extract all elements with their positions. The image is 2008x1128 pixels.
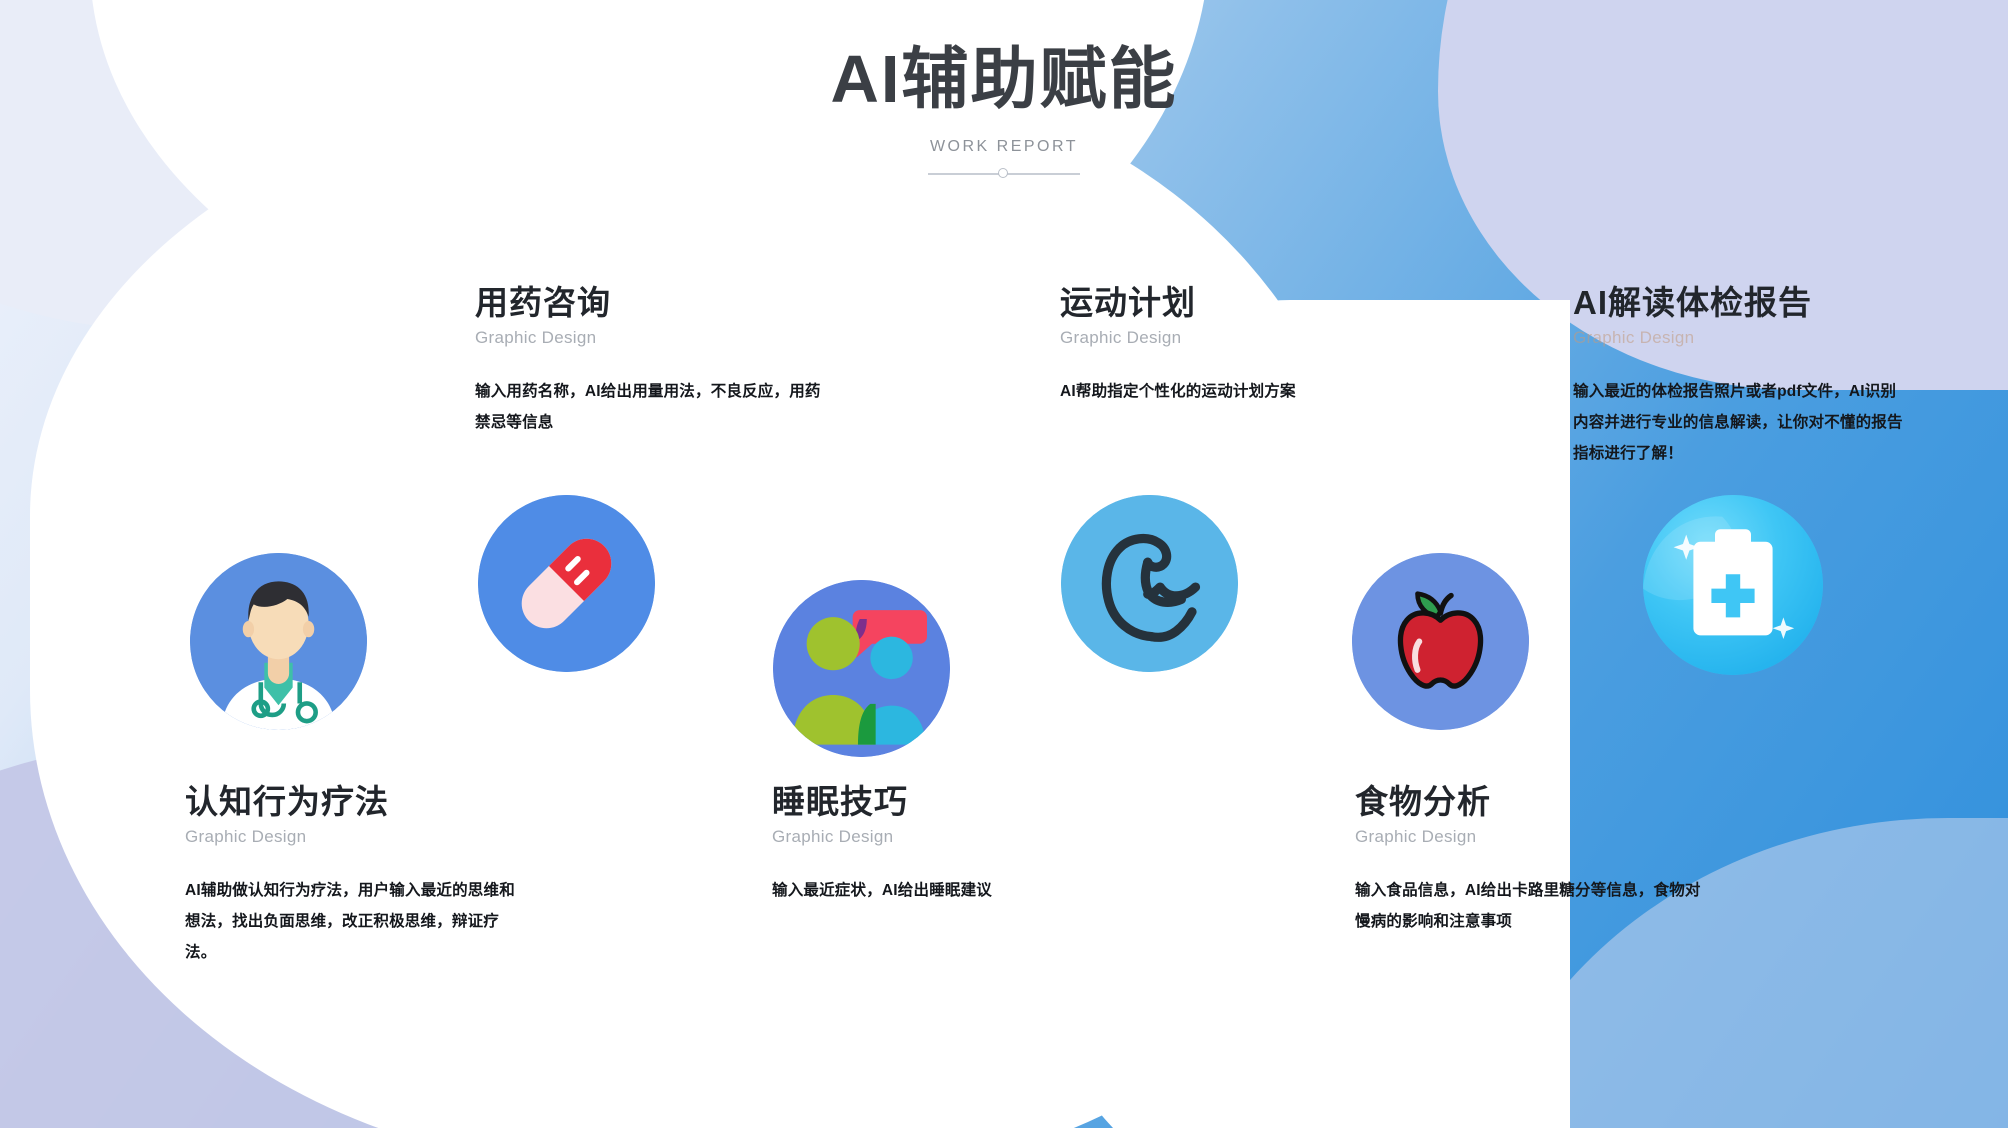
block-subtitle: Graphic Design [1060, 328, 1390, 348]
block-description: 输入食品信息，AI给出卡路里糖分等信息，食物对慢病的影响和注意事项 [1355, 875, 1705, 937]
doctor-icon [190, 553, 367, 730]
block-subtitle: Graphic Design [475, 328, 835, 348]
block-title: 运动计划 [1060, 283, 1390, 323]
block-description: AI辅助做认知行为疗法，用户输入最近的思维和想法，找出负面思维，改正积极思维，辩… [185, 875, 525, 968]
title-divider [928, 167, 1080, 181]
block-description: 输入最近症状，AI给出睡眠建议 [772, 875, 1102, 906]
block-subtitle: Graphic Design [1355, 827, 1705, 847]
page-subtitle: WORK REPORT [0, 138, 2008, 156]
pill-icon [478, 495, 655, 672]
block-title: 食物分析 [1355, 782, 1705, 822]
content-block-sleep: 睡眠技巧 Graphic Design 输入最近症状，AI给出睡眠建议 [772, 782, 1102, 906]
block-title: 用药咨询 [475, 283, 835, 323]
apple-icon [1352, 553, 1529, 730]
block-subtitle: Graphic Design [185, 827, 525, 847]
block-subtitle: Graphic Design [772, 827, 1102, 847]
medical-report-icon [1643, 495, 1823, 675]
two-people-talking-icon [773, 580, 950, 757]
block-description: 输入最近的体检报告照片或者pdf文件，AI识别内容并进行专业的信息解读，让你对不… [1573, 376, 1903, 469]
muscle-icon [1061, 495, 1238, 672]
content-block-medication: 用药咨询 Graphic Design 输入用药名称，AI给出用量用法，不良反应… [475, 283, 835, 438]
content-block-report: AI解读体检报告 Graphic Design 输入最近的体检报告照片或者pdf… [1573, 283, 1903, 469]
content-block-cbt: 认知行为疗法 Graphic Design AI辅助做认知行为疗法，用户输入最近… [185, 782, 525, 968]
block-title: AI解读体检报告 [1573, 283, 1903, 323]
slide-header: AI辅助赋能 WORK REPORT [0, 44, 2008, 181]
block-description: AI帮助指定个性化的运动计划方案 [1060, 376, 1390, 407]
slide-canvas: AI辅助赋能 WORK REPORT 用药咨询 Graphic Design 输… [0, 0, 2008, 1128]
block-description: 输入用药名称，AI给出用量用法，不良反应，用药禁忌等信息 [475, 376, 835, 438]
block-title: 认知行为疗法 [185, 782, 525, 822]
page-title: AI辅助赋能 [0, 44, 2008, 116]
divider-dot [998, 168, 1008, 178]
content-block-exercise: 运动计划 Graphic Design AI帮助指定个性化的运动计划方案 [1060, 283, 1390, 407]
content-block-food: 食物分析 Graphic Design 输入食品信息，AI给出卡路里糖分等信息，… [1355, 782, 1705, 937]
block-title: 睡眠技巧 [772, 782, 1102, 822]
block-subtitle: Graphic Design [1573, 328, 1903, 348]
